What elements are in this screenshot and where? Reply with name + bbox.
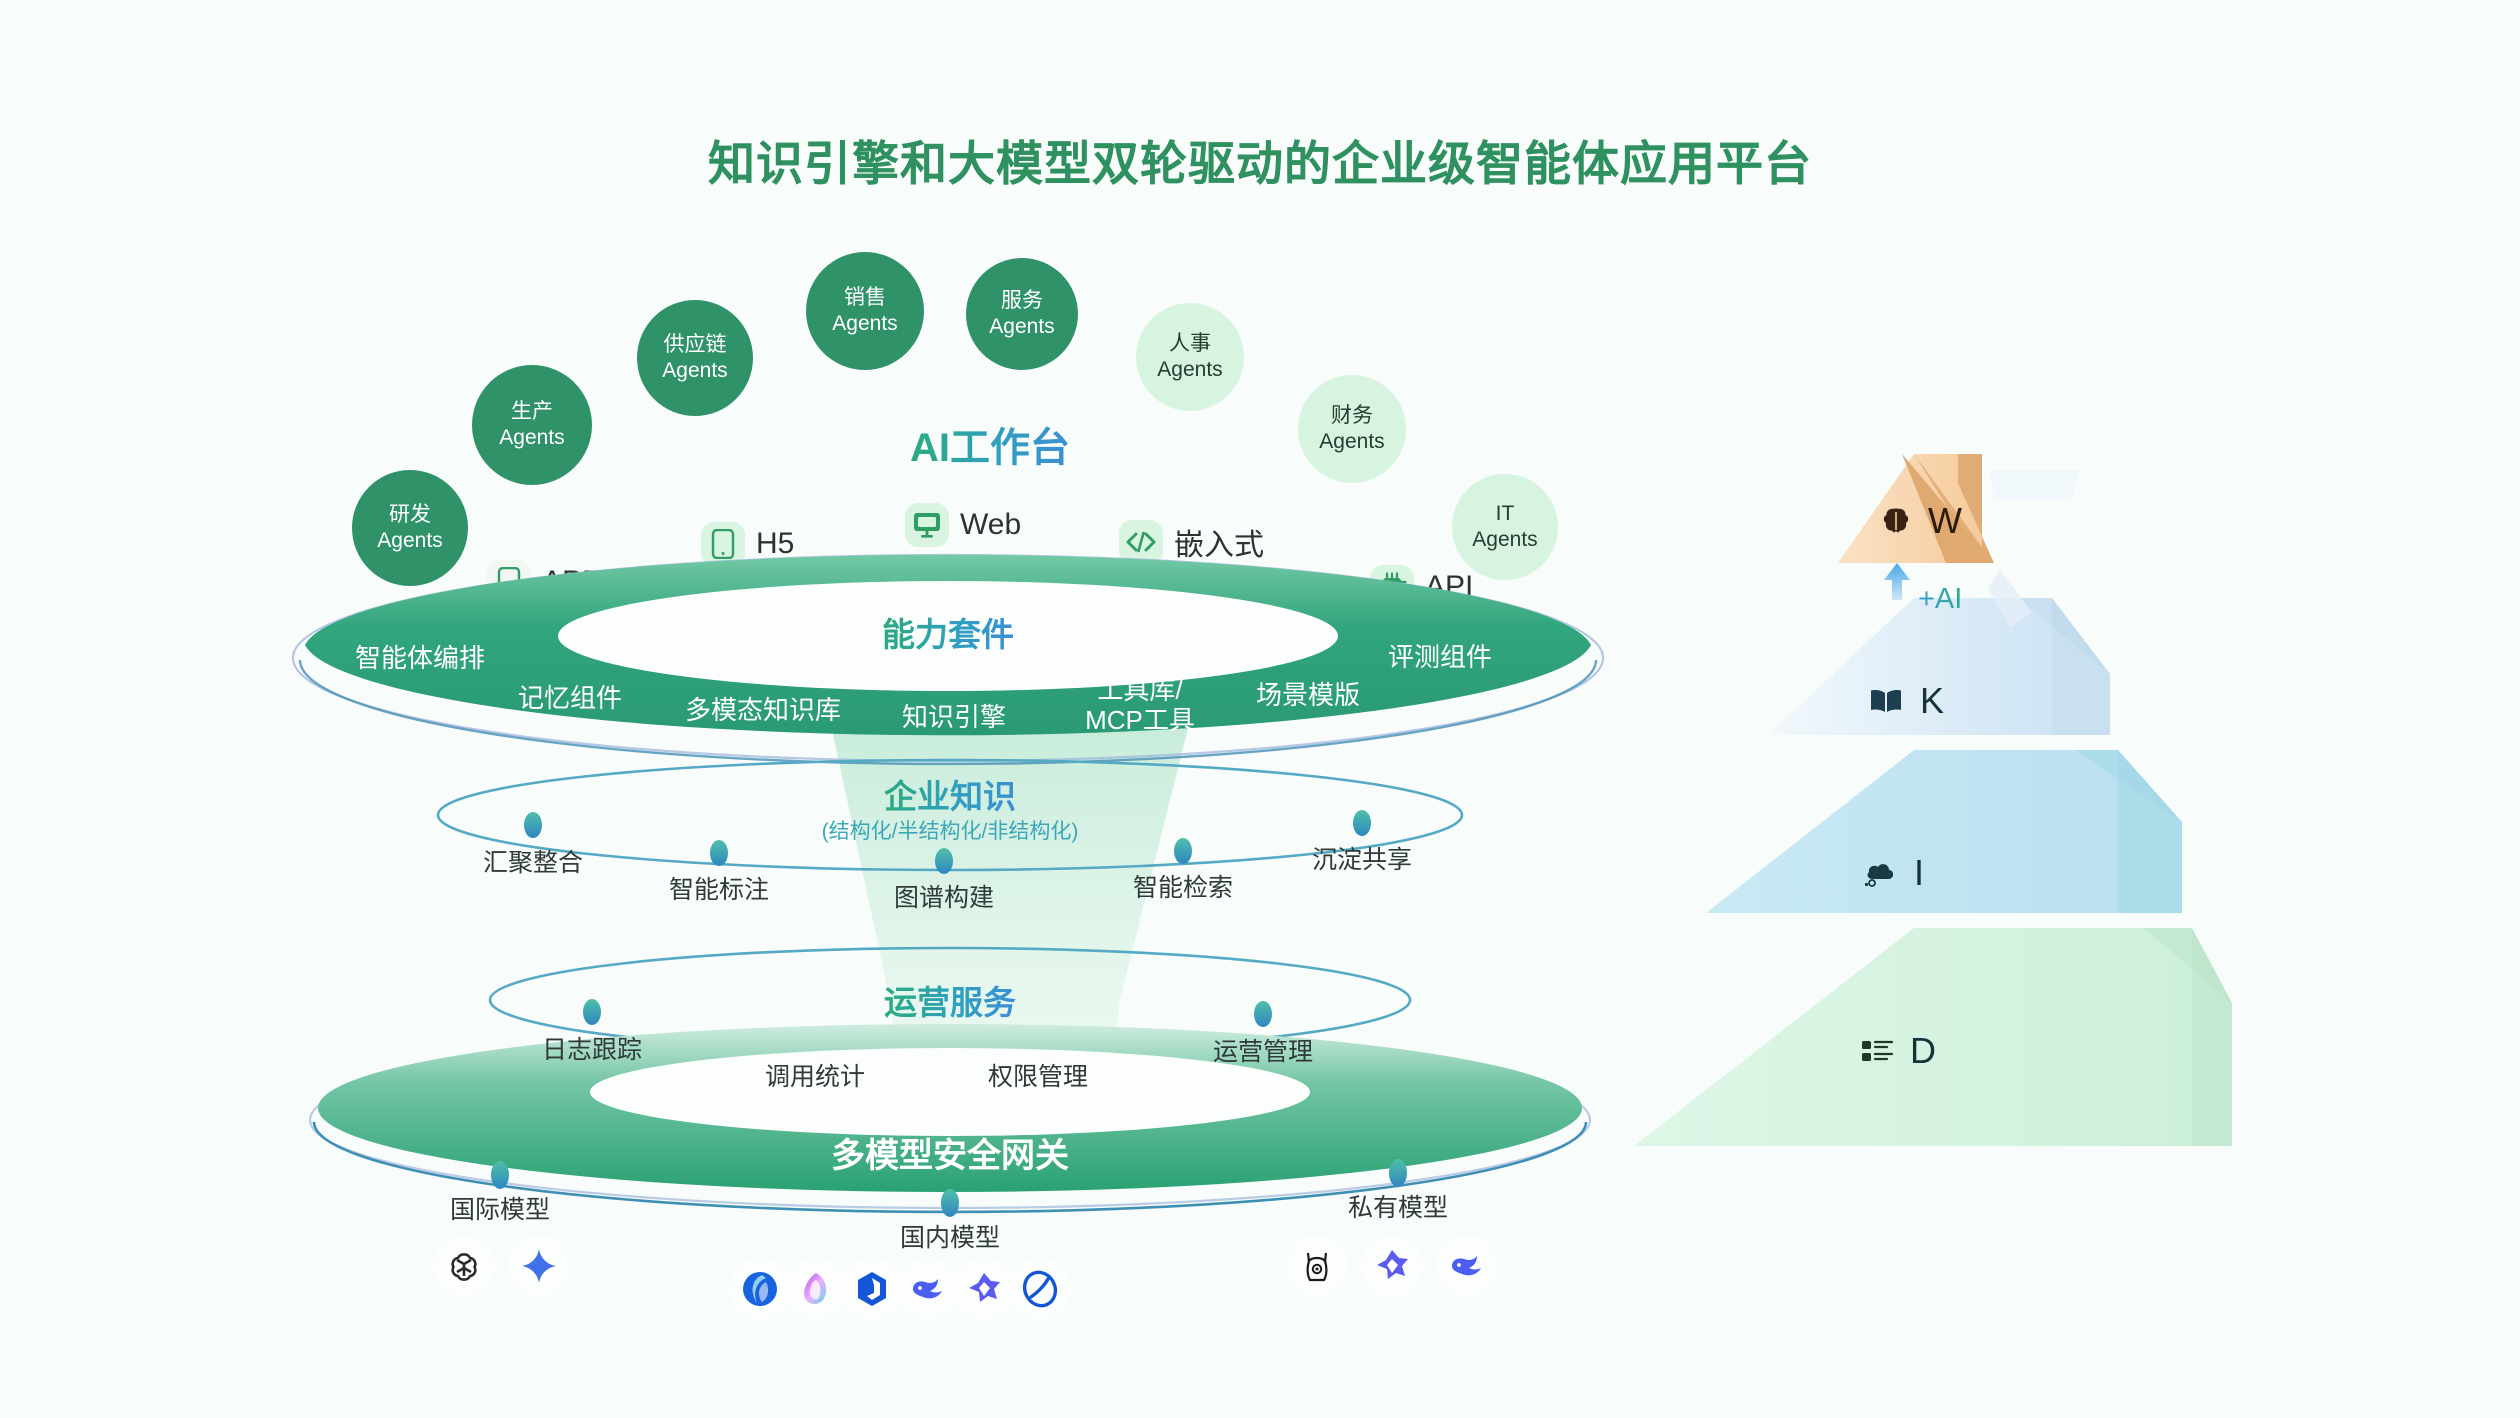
capability-layer-title: 能力套件: [798, 608, 1098, 656]
agent-label-cn: 研发: [389, 503, 431, 526]
operation-node-log[interactable]: 日志跟踪: [492, 1030, 692, 1066]
agent-label-en: Agents: [832, 312, 897, 335]
knowledge-node-annotate[interactable]: 智能标注: [619, 870, 819, 906]
channel-h5[interactable]: H5: [701, 522, 794, 566]
list-icon: [1860, 1038, 1894, 1064]
knowledge-node-aggregate[interactable]: 汇聚整合: [433, 843, 633, 879]
book-icon: [1868, 687, 1904, 715]
cloud-icon: [1862, 859, 1898, 887]
capability-item-evaluation[interactable]: 评测组件: [1320, 637, 1560, 674]
agent-bubble-service[interactable]: 服务 Agents: [966, 258, 1078, 370]
hunyuan-logo[interactable]: [841, 1258, 903, 1320]
deepseek-logo[interactable]: [1436, 1235, 1498, 1297]
doubao-logo[interactable]: [785, 1258, 847, 1320]
pyramid-letter: I: [1914, 852, 1924, 894]
page-title: 知识引擎和大模型双轮驱动的企业级智能体应用平台: [0, 125, 2520, 194]
agent-bubble-hr[interactable]: 人事 Agents: [1136, 303, 1244, 411]
knowledge-layer-title: 企业知识: [800, 770, 1100, 818]
moonshot-logo[interactable]: [1009, 1258, 1071, 1320]
agent-label-cn: 财务: [1331, 404, 1373, 427]
agent-label-en: Agents: [377, 529, 442, 552]
pyramid-letter: K: [1920, 680, 1944, 722]
plus-ai-label: +AI: [1918, 583, 1962, 616]
operation-layer-title: 运营服务: [800, 976, 1100, 1024]
agent-label-en: Agents: [499, 426, 564, 449]
chip-icon: API: [1370, 565, 1414, 609]
pyramid-letter: W: [1928, 500, 1962, 542]
brain-icon: [1880, 506, 1912, 536]
channel-label: H5: [756, 527, 794, 561]
agent-bubble-sales[interactable]: 销售 Agents: [806, 252, 924, 370]
agent-label-cn: 销售: [844, 286, 886, 309]
capability-item-orchestration[interactable]: 智能体编排: [300, 638, 540, 675]
agent-label-en: Agents: [1319, 430, 1384, 453]
agent-bubble-finance[interactable]: 财务 Agents: [1298, 375, 1406, 483]
agent-label-en: Agents: [1472, 528, 1537, 551]
capability-item-knowledge-engine[interactable]: 知识引擎: [854, 697, 1054, 734]
agent-label-cn: 服务: [1001, 289, 1043, 312]
agent-label-cn: 人事: [1169, 332, 1211, 355]
deepseek-logo[interactable]: [897, 1258, 959, 1320]
agent-bubble-supplychain[interactable]: 供应链 Agents: [637, 300, 753, 416]
code-icon: [1119, 520, 1163, 564]
knowledge-node-share[interactable]: 沉淀共享: [1262, 840, 1462, 876]
knowledge-node-graph[interactable]: 图谱构建: [844, 878, 1044, 914]
operation-node-ops[interactable]: 运营管理: [1163, 1032, 1363, 1068]
gateway-node-international[interactable]: 国际模型: [400, 1190, 600, 1226]
agent-label-en: Agents: [662, 359, 727, 382]
agent-bubble-production[interactable]: 生产 Agents: [472, 365, 592, 485]
llama-logo[interactable]: [1286, 1235, 1348, 1297]
mobile-icon: [701, 522, 745, 566]
zhipu-logo[interactable]: [953, 1258, 1015, 1320]
agent-label-en: Agents: [1157, 358, 1222, 381]
pyramid-letter: D: [1910, 1030, 1936, 1072]
operation-node-permission[interactable]: 权限管理: [938, 1057, 1138, 1093]
mobile-icon: [487, 560, 531, 604]
operation-node-stats[interactable]: 调用统计: [715, 1057, 915, 1093]
channel-web[interactable]: Web: [905, 503, 1021, 547]
channel-label: 嵌入式: [1174, 520, 1264, 564]
agent-bubble-rd[interactable]: 研发 Agents: [352, 470, 468, 586]
agent-label-en: Agents: [989, 315, 1054, 338]
channel-label: Web: [960, 508, 1021, 542]
gateway-node-private[interactable]: 私有模型: [1298, 1188, 1498, 1224]
svg-text:API: API: [1385, 584, 1398, 593]
capability-item-multimodal-kb[interactable]: 多模态知识库: [638, 690, 888, 727]
channel-app[interactable]: APP: [487, 560, 602, 604]
knowledge-layer-subtitle: (结构化/半结构化/非结构化): [790, 815, 1110, 845]
agent-label-cn: IT: [1496, 502, 1515, 525]
ernie-logo[interactable]: [729, 1258, 791, 1320]
ai-workbench-title: AI工作台: [790, 415, 1190, 473]
monitor-icon: [905, 503, 949, 547]
channel-api[interactable]: API API: [1370, 565, 1473, 609]
pyramid-level-d[interactable]: D: [1860, 1030, 1936, 1072]
channel-label: API: [1425, 570, 1473, 604]
openai-logo[interactable]: [433, 1235, 495, 1297]
channel-label: APP: [542, 565, 602, 599]
pyramid-level-i[interactable]: I: [1862, 852, 1924, 894]
capability-item-scene-template[interactable]: 场景模版: [1208, 675, 1408, 712]
channel-embedded[interactable]: 嵌入式: [1119, 520, 1264, 564]
pyramid-level-k[interactable]: K: [1868, 680, 1944, 722]
agent-label-cn: 生产: [511, 400, 553, 423]
knowledge-node-search[interactable]: 智能检索: [1083, 868, 1283, 904]
zhipu-logo[interactable]: [1361, 1235, 1423, 1297]
pyramid-level-w[interactable]: W: [1880, 500, 1962, 542]
gemini-logo[interactable]: [508, 1235, 570, 1297]
agent-label-cn: 供应链: [663, 333, 726, 356]
gateway-layer-title: 多模型安全网关: [800, 1128, 1100, 1177]
gateway-node-domestic[interactable]: 国内模型: [850, 1218, 1050, 1254]
